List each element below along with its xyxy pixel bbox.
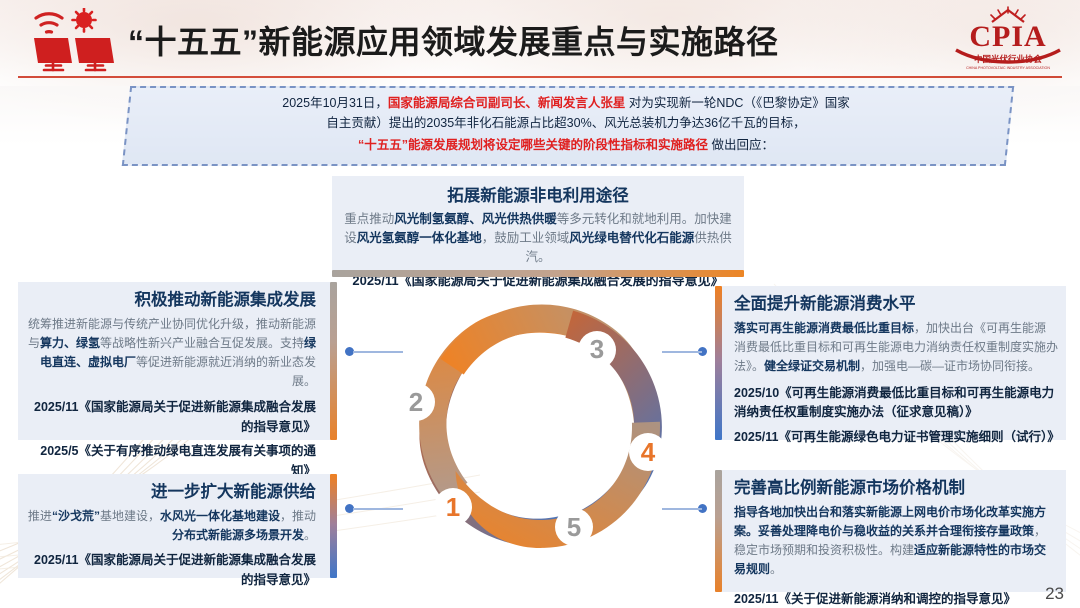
card-body: 落实可再生能源消费最低比重目标，加快出台《可再生能源消费最低比重目标和可再生能源… [734,319,1058,376]
text-run-4: 等促进新能源就近消纳的新业态发展。 [136,355,316,388]
cpia-logo: CPIA 中国光伏行业协会 CHINA PHOTOVOLTAIC INDUSTR… [950,4,1066,72]
text-run-5: 风光绿电替代化石能源 [569,231,694,245]
accent-bar-left-bottom [330,474,337,578]
cpia-logo-subtitle: 中国光伏行业协会 [974,54,1043,64]
text-run-5: 分布式新能源多场景开发 [172,528,304,542]
text-run-3: 水风光一体化基地建设 [160,509,280,523]
text-run-0: 重点推动 [344,212,394,226]
card-title: 拓展新能源非电利用途径 [344,184,732,208]
card-title: 进一步扩大新能源供给 [26,480,316,505]
card-title: 积极推动新能源集成发展 [26,288,316,313]
card-body: 重点推动风光制氢氨醇、风光供热供暖等多元转化和就地利用。加快建设风光氢氨醇一体化… [344,210,732,267]
text-run-0: 推进 [28,509,52,523]
svg-text:CPIA: CPIA [969,20,1046,53]
text-run-2: 等战略性新兴产业融合互促发展。支持 [100,336,304,350]
page-header: “十五五”新能源应用领域发展重点与实施路径 CPIA 中国光伏行业协会 CHIN… [0,0,1080,78]
text-run-1: 风光制氢氨醇、风光供热供暖 [394,212,557,226]
card-document-1: 2025/10《可再生能源消费最低比重目标和可再生能源电力消纳责任权重制度实施办… [734,384,1058,422]
accent-bar-right-bottom [715,470,722,592]
wheel-badge-2: 4 [629,433,667,471]
quote-highlight-question: “十五五”能源发展规划将设定哪些关键的阶段性指标和实施路径 [358,138,708,152]
card-body: 推进“沙戈荒”基地建设，水风光一体化基地建设，推动分布式新能源多场景开发。 [26,507,316,545]
text-run-3: 风光氢氨醇一体化基地 [357,231,482,245]
text-run-2: 基地建设， [100,509,160,523]
quote-line-3: “十五五”能源发展规划将设定哪些关键的阶段性指标和实施路径 做出回应： [358,135,774,155]
svg-text:CHINA PHOTOVOLTAIC INDUSTRY AS: CHINA PHOTOVOLTAIC INDUSTRY ASSOCIATION [966,66,1050,70]
card-raise-consumption[interactable]: 全面提升新能源消费水平 落实可再生能源消费最低比重目标，加快出台《可再生能源消费… [722,286,1066,440]
slide-root: “十五五”新能源应用领域发展重点与实施路径 CPIA 中国光伏行业协会 CHIN… [0,0,1080,608]
quote-line-1: 2025年10月31日，国家能源局综合司副司长、新闻发言人张星 对为实现新一轮N… [282,93,849,113]
quote-highlight-speaker: 国家能源局综合司副司长、新闻发言人张星 [388,96,626,110]
card-document-1: 2025/11《关于促进新能源消纳和调控的指导意见》 [734,589,1058,608]
accent-bar-left-top [330,282,337,440]
card-document-1: 2025/11《国家能源局关于促进新能源集成融合发展的指导意见》 [26,397,316,437]
wheel-badge-4: 1 [434,488,472,526]
page-title: “十五五”新能源应用领域发展重点与实施路径 [128,12,928,68]
text-run-2: 健全绿证交易机制 [764,359,860,373]
page-number: 23 [1045,584,1064,604]
quote-line-1-b: 对为实现新一轮NDC（《巴黎协定》国家 [625,96,849,110]
card-body: 指导各地加快出台和落实新能源上网电价市场化改革实施方案。妥善处理降电价与稳收益的… [734,503,1058,579]
solar-panel-logo [22,8,126,72]
text-run-0: 落实可再生能源消费最低比重目标 [734,321,914,335]
pinwheel-diagram: 3 4 5 1 2 [396,282,684,570]
wheel-badge-5: 2 [397,383,435,421]
quote-line-3-b: 做出回应： [708,138,774,152]
wheel-badge-3: 5 [555,508,593,546]
card-promote-integration[interactable]: 积极推动新能源集成发展 统筹推进新能源与传统产业协同优化升级，推动新能源与算力、… [18,282,330,440]
wheel-number-3: 3 [590,334,604,364]
wheel-number-2: 2 [409,387,423,417]
text-run-4: ，推动 [280,509,316,523]
quote-line-2: 自主贡献）提出的2035年非化石能源占比超30%、风光总装机力争达36亿千瓦的目… [326,113,805,133]
text-run-6: 。 [304,528,316,542]
card-price-mechanism[interactable]: 完善高比例新能源市场价格机制 指导各地加快出台和落实新能源上网电价市场化改革实施… [722,470,1066,592]
card-expand-non-electric-use[interactable]: 拓展新能源非电利用途径 重点推动风光制氢氨醇、风光供热供暖等多元转化和就地利用。… [332,176,744,270]
accent-bar-top [332,270,744,277]
card-title: 完善高比例新能源市场价格机制 [734,476,1058,501]
quote-line-1-a: 2025年10月31日， [282,96,388,110]
text-run-1: “沙戈荒” [52,509,100,523]
wheel-number-1: 1 [446,492,460,522]
wheel-badge-1: 3 [578,331,616,369]
text-run-0: 指导各地加快出台和落实新能源上网电价市场化改革实施方案。妥善处理降电价与稳收益的… [734,505,1046,538]
text-run-4: ，鼓励工业领域 [482,231,570,245]
card-expand-supply[interactable]: 进一步扩大新能源供给 推进“沙戈荒”基地建设，水风光一体化基地建设，推动分布式新… [18,474,330,578]
card-document-1: 2025/11《国家能源局关于促进新能源集成融合发展的指导意见》 [26,550,316,590]
card-document-2: 2025/11《可再生能源绿色电力证书管理实施细则（试行）》 [734,428,1058,447]
quote-box: 2025年10月31日，国家能源局综合司副司长、新闻发言人张星 对为实现新一轮N… [126,86,1006,162]
wheel-number-4: 4 [641,437,656,467]
text-run-1: 算力、绿氢 [40,336,100,350]
header-divider [18,76,1062,78]
card-body: 统筹推进新能源与传统产业协同优化升级，推动新能源与算力、绿氢等战略性新兴产业融合… [26,315,316,391]
text-run-3: 。 [770,562,782,576]
wheel-number-5: 5 [567,512,581,542]
card-title: 全面提升新能源消费水平 [734,292,1058,317]
text-run-3: ，加强电—碳—证市场协同衔接。 [860,359,1040,373]
accent-bar-right-top [715,286,722,440]
